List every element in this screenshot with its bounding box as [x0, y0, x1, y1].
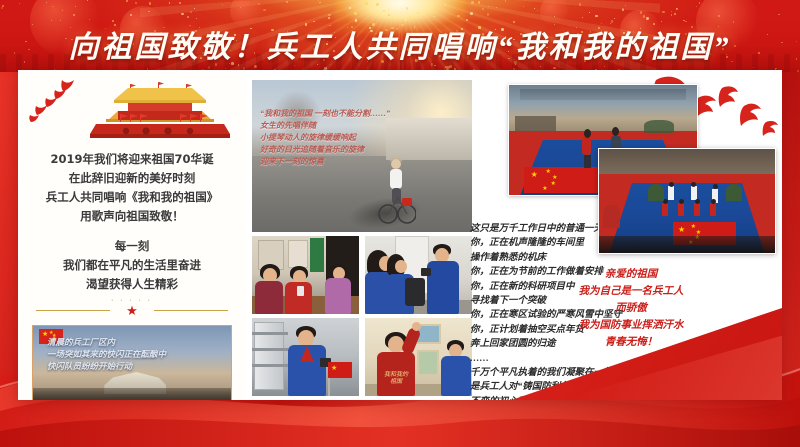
lead-line: 用歌声向祖国致敬！ — [28, 207, 236, 226]
lead-line: 我们都在平凡的生活里奋进 — [28, 256, 236, 275]
left-lead-text: 2019年我们将迎来祖国70华诞 在此辞旧迎新的美好时刻 兵工人共同唱响《我和我… — [28, 150, 236, 294]
photo-street-bicycle: “我和我的祖国 一刻也不能分割……” 女生的先唱伴随 小提琴动人的旋律缓缓响起 … — [252, 80, 472, 232]
tiananmen-gate-icon — [84, 78, 236, 140]
divider-bar-right — [154, 310, 228, 311]
photo-hall-workers — [365, 236, 472, 314]
photo-office-listeners — [252, 236, 359, 314]
slogan-line: 亲爱的祖国 — [480, 266, 782, 283]
star-icon: ★ — [126, 304, 138, 317]
slogan-line: 而骄傲 — [480, 300, 782, 317]
caption-line: “我和我的祖国 一刻也不能分割……” — [260, 108, 466, 120]
lead-line: 在此辞旧迎新的美好时刻 — [28, 169, 236, 188]
photo-factory-worker: ★ — [252, 318, 359, 396]
left-column: 2019年我们将迎来祖国70华诞 在此辞旧迎新的美好时刻 兵工人共同唱响《我和我… — [18, 70, 246, 400]
lead-line: 2019年我们将迎来祖国70华诞 — [28, 150, 236, 169]
caption-line: 好奇的目光追随着音乐的旋律 — [260, 144, 466, 156]
page-title: 向祖国致敬！兵工人共同唱响“我和我的祖国” — [0, 22, 800, 66]
lead-line: 渴望获得人生精彩 — [28, 275, 236, 294]
lead-line: 每一刻 — [28, 237, 236, 256]
photo-lobby-singer: 我和我的祖国 — [365, 318, 472, 396]
caption-line: 迎来下一刻的惊喜 — [260, 156, 466, 168]
tiananmen-illustration — [28, 76, 236, 142]
photo-treeline — [33, 388, 232, 400]
caption-line: 女生的先唱伴随 — [260, 120, 466, 132]
street-photo-caption: “我和我的祖国 一刻也不能分割……” 女生的先唱伴随 小提琴动人的旋律缓缓响起 … — [260, 108, 466, 168]
photo-factory-dawn: ★ ★ ★ ★ ★ 清晨的兵工厂区内 一场突如其来的快闪正在酝酿中 快闪队员纷纷… — [32, 325, 232, 400]
header-banner: 向祖国致敬！兵工人共同唱响“我和我的祖国” — [0, 0, 800, 72]
photo-caption-overlay: 清晨的兵工厂区内 一场突如其来的快闪正在酝酿中 快闪队员纷纷开始行动 — [47, 336, 225, 372]
spacer — [28, 226, 236, 237]
caption-line: 小提琴动人的旋律缓缓响起 — [260, 132, 466, 144]
photo-stage-chorus: ★ ★ ★ ★ ★ — [598, 148, 776, 254]
content-card: 2019年我们将迎来祖国70华诞 在此辞旧迎新的美好时刻 兵工人共同唱响《我和我… — [18, 70, 782, 400]
caption-line: 快闪队员纷纷开始行动 — [47, 360, 225, 372]
middle-photo-column: “我和我的祖国 一刻也不能分割……” 女生的先唱伴随 小提琴动人的旋律缓缓响起 … — [250, 78, 474, 396]
slogan-line: 我为自己是一名兵工人 — [480, 283, 782, 300]
poster-root: 向祖国致敬！兵工人共同唱响“我和我的祖国” — [0, 0, 800, 447]
caption-line: 清晨的兵工厂区内 — [47, 336, 225, 348]
lead-line: 兵工人共同唱响《我和我的祖国》 — [28, 188, 236, 207]
caption-line: 一场突如其来的快闪正在酝酿中 — [47, 348, 225, 360]
star-divider: • • • • • ★ — [36, 303, 228, 317]
divider-bar-left — [36, 310, 110, 311]
